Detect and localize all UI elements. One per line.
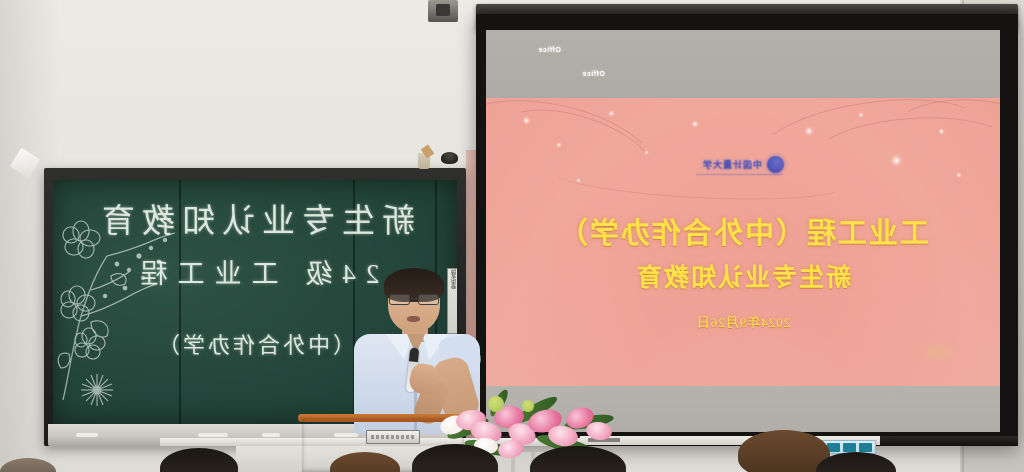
slide-sparkle: [858, 112, 864, 118]
sign-glyph: [843, 443, 856, 452]
slide-sparkle: [890, 154, 903, 167]
chalk-stick: [198, 433, 228, 437]
blackboard-line-1: 新生专业认知教育: [53, 194, 457, 242]
chalk-stick: [262, 433, 280, 437]
lecture-hall-photo: Office Office: [0, 0, 1024, 472]
slide-subtitle: 新生专业认知教育: [486, 258, 1000, 294]
slide-sparkle: [804, 126, 814, 136]
slide-sparkle: [691, 120, 699, 128]
flower-petal: [585, 420, 613, 441]
projection-gray-band-top: Office Office: [486, 30, 1000, 98]
projected-app-label-2: Office: [582, 71, 605, 78]
university-logo-text: 中国计量大学: [702, 158, 762, 171]
flower-bud: [522, 400, 534, 412]
glasses-icon: [388, 294, 440, 303]
podium-nameplate: [366, 430, 420, 444]
university-emblem-icon: [767, 156, 784, 173]
slide-date: 2024年9月26日: [486, 312, 1000, 331]
screen-surface: Office Office: [486, 30, 1000, 432]
slide-sparkle: [956, 172, 962, 178]
screen-ceiling-mount: [428, 0, 458, 22]
projected-app-label-1: Office: [538, 47, 561, 54]
slide-sparkle: [938, 128, 945, 135]
slide-title: 工业工程（中外合作办学）: [486, 210, 1000, 252]
sign-glyph: [859, 443, 872, 452]
slide-sparkle: [576, 178, 581, 183]
presentation-slide: 中国计量大学 工业工程（中外合作办学） 新生专业认知教育 2024年9月26日: [486, 98, 1000, 414]
university-logo: 中国计量大学: [702, 156, 784, 173]
blackboard-knob: [441, 152, 458, 164]
flower-bud: [488, 396, 504, 412]
object-on-blackboard: [418, 142, 436, 169]
speaker-mouth: [407, 316, 420, 322]
logo-underline: [696, 174, 782, 175]
slide-sparkle: [608, 110, 615, 117]
slide-corner-smudge: [920, 342, 956, 362]
slide-sparkle: [556, 142, 562, 148]
slide-sparkle: [644, 150, 649, 155]
slide-sparkle: [522, 116, 531, 125]
projection-screen: Office Office: [476, 14, 1018, 444]
chalk-stick: [76, 433, 98, 437]
